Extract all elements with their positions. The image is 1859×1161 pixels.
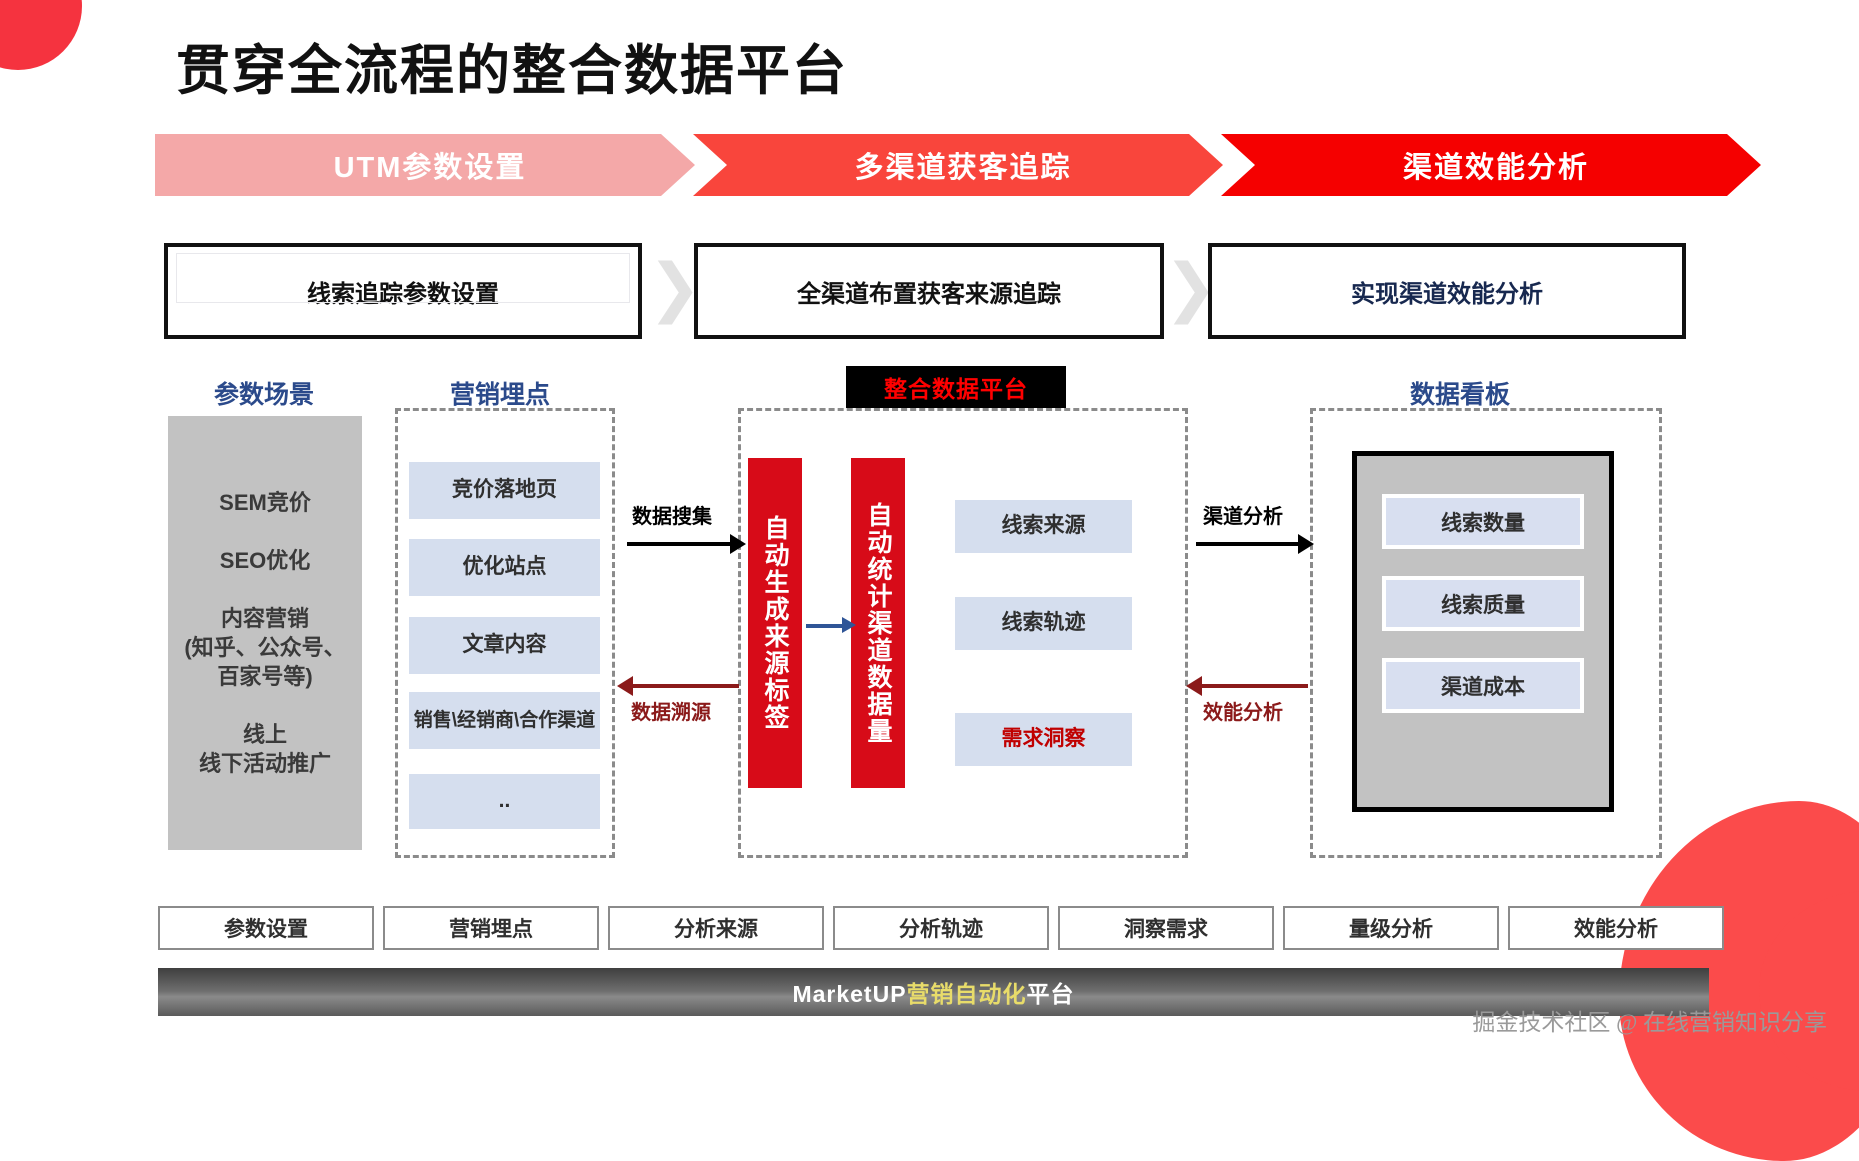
stage-chevron-utm-label: UTM参数设置 xyxy=(324,144,527,186)
tab-analyze-source[interactable]: 分析来源 xyxy=(608,906,824,950)
stage-chevron-multichannel-label: 多渠道获客追踪 xyxy=(844,144,1071,186)
platform-chip-lead-source[interactable]: 线索来源 xyxy=(955,500,1132,553)
footer-brand-suffix: 平台 xyxy=(1027,981,1075,1007)
process-box-lead-tracking[interactable]: 线索追踪参数设置 xyxy=(164,243,642,339)
tab-efficiency-analysis[interactable]: 效能分析 xyxy=(1508,906,1724,950)
column-heading-marketing: 营销埋点 xyxy=(450,375,550,411)
tab-analyze-track[interactable]: 分析轨迹 xyxy=(833,906,1049,950)
arrow-trace-line xyxy=(627,684,739,688)
dashboard-chip[interactable]: 线索数量 xyxy=(1382,494,1584,549)
scenario-item: SEO优化 xyxy=(220,546,310,575)
dashboard-panel: 线索数量 线索质量 渠道成本 xyxy=(1352,451,1614,812)
stage-chevron-efficiency[interactable]: 渠道效能分析 xyxy=(1221,134,1761,196)
stage-chevron-multichannel[interactable]: 多渠道获客追踪 xyxy=(693,134,1223,196)
process-box-efficiency[interactable]: 实现渠道效能分析 xyxy=(1208,243,1686,339)
tab-marketing-tracking[interactable]: 营销埋点 xyxy=(383,906,599,950)
bottom-tab-row: 参数设置 营销埋点 分析来源 分析轨迹 洞察需求 量级分析 效能分析 xyxy=(158,906,1724,950)
arrow-trace-label: 数据溯源 xyxy=(631,696,711,725)
scenario-item: 线上 线下活动推广 xyxy=(199,720,331,778)
dashboard-chip[interactable]: 线索质量 xyxy=(1382,576,1584,631)
arrow-collect-head-icon xyxy=(730,534,746,554)
arrow-collect-line xyxy=(627,542,735,546)
process-box-efficiency-label: 实现渠道效能分析 xyxy=(1351,274,1543,309)
arrow-trace-head-icon xyxy=(617,676,633,696)
marketing-chip[interactable]: 竞价落地页 xyxy=(409,462,600,519)
arrow-channel-label: 渠道分析 xyxy=(1203,500,1283,529)
tab-insight-demand[interactable]: 洞察需求 xyxy=(1058,906,1274,950)
stage-chevron-efficiency-label: 渠道效能分析 xyxy=(1393,144,1589,186)
column-heading-dashboard: 数据看板 xyxy=(1410,375,1510,411)
scenario-panel: SEM竞价 SEO优化 内容营销 (知乎、公众号、 百家号等) 线上 线下活动推… xyxy=(168,416,362,850)
marketing-chip[interactable]: .. xyxy=(409,774,600,829)
arrow-efficiency-line xyxy=(1196,684,1308,688)
process-chevron-icon-1: ❯ xyxy=(648,258,690,320)
arrow-internal-head-icon xyxy=(842,617,856,633)
platform-bar-source-tag[interactable]: 自动生成来源标签 xyxy=(748,458,802,788)
scenario-item: SEM竞价 xyxy=(219,488,311,517)
marketing-chip[interactable]: 文章内容 xyxy=(409,617,600,674)
platform-tag: 整合数据平台 xyxy=(846,366,1066,408)
platform-chip-demand-insight[interactable]: 需求洞察 xyxy=(955,713,1132,766)
platform-chip-lead-track[interactable]: 线索轨迹 xyxy=(955,597,1132,650)
column-heading-scenario: 参数场景 xyxy=(214,375,314,411)
page-title: 贯穿全流程的整合数据平台 xyxy=(176,26,848,105)
process-box-omnichannel-label: 全渠道布置获客来源追踪 xyxy=(797,274,1061,309)
footer-brand-prefix: MarketUP xyxy=(792,981,906,1007)
stage-chevron-band: UTM参数设置 多渠道获客追踪 渠道效能分析 xyxy=(155,134,1761,196)
dashboard-chip[interactable]: 渠道成本 xyxy=(1382,658,1584,713)
arrow-channel-head-icon xyxy=(1298,534,1314,554)
arrow-efficiency-head-icon xyxy=(1186,676,1202,696)
arrow-channel-line xyxy=(1196,542,1304,546)
marketing-chip[interactable]: 优化站点 xyxy=(409,539,600,596)
arrow-efficiency-label: 效能分析 xyxy=(1203,696,1283,725)
footer-brand: MarketUP营销自动化平台 xyxy=(792,975,1074,1009)
marketing-chip[interactable]: 销售\经销商\合作渠道 xyxy=(409,692,600,749)
tab-param-settings[interactable]: 参数设置 xyxy=(158,906,374,950)
platform-bar-channel-stats[interactable]: 自动统计渠道数据量 xyxy=(851,458,905,788)
process-box-lead-tracking-label: 线索追踪参数设置 xyxy=(307,274,499,309)
arrow-collect-label: 数据搜集 xyxy=(632,500,712,529)
watermark: 掘金技术社区 @ 在线营销知识分享 xyxy=(1472,1003,1827,1037)
process-box-omnichannel[interactable]: 全渠道布置获客来源追踪 xyxy=(694,243,1164,339)
footer-brand-highlight: 营销自动化 xyxy=(907,981,1027,1007)
process-chevron-icon-2: ❯ xyxy=(1164,258,1206,320)
stage-chevron-utm[interactable]: UTM参数设置 xyxy=(155,134,695,196)
tab-volume-analysis[interactable]: 量级分析 xyxy=(1283,906,1499,950)
slide-canvas: 贯穿全流程的整合数据平台 UTM参数设置 多渠道获客追踪 渠道效能分析 线索追踪… xyxy=(0,0,1859,1051)
scenario-item: 内容营销 (知乎、公众号、 百家号等) xyxy=(184,604,345,691)
